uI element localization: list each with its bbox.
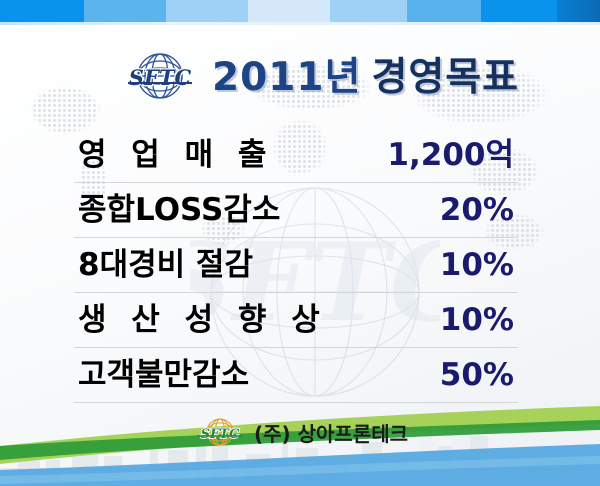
goal-value: 1,200억 — [387, 140, 518, 171]
sftc-logo-icon: SFTC — [118, 51, 202, 101]
slide-title-bar: SFTC 2011년경영목표 — [0, 48, 600, 106]
page-title: 2011년경영목표 — [212, 46, 519, 102]
goal-label: 8대경비 절감 — [74, 250, 253, 281]
svg-text:SFTC: SFTC — [129, 65, 192, 90]
top-color-band — [0, 0, 600, 22]
band-block — [330, 0, 407, 22]
band-block — [84, 0, 166, 22]
table-row: 생 산 성 향 상 10% — [74, 293, 518, 348]
goal-label: 생 산 성 향 상 — [74, 305, 327, 336]
goal-label: 종합LOSS감소 — [74, 195, 280, 226]
band-block — [248, 0, 330, 22]
title-main: 경영목표 — [371, 55, 519, 100]
sftc-footer-logo-icon: SFTC — [192, 416, 248, 448]
company-name: (주) 상아프론테크 — [254, 418, 408, 447]
goal-value: 20% — [440, 195, 518, 226]
band-block — [0, 0, 84, 22]
band-block — [166, 0, 248, 22]
band-block — [481, 0, 557, 22]
table-row: 영 업 매 출 1,200억 — [74, 128, 518, 183]
goal-value: 50% — [440, 360, 518, 391]
title-year: 2011년 — [212, 55, 361, 100]
presentation-slide: SFTC SFTC 2011년경영목표 영 업 매 출 1,200억 — [0, 0, 600, 486]
goal-label: 영 업 매 출 — [74, 140, 273, 171]
table-row: 종합LOSS감소 20% — [74, 183, 518, 238]
goal-value: 10% — [440, 250, 518, 281]
band-block — [407, 0, 481, 22]
band-block — [557, 0, 600, 22]
goal-label: 고객불만감소 — [74, 360, 249, 391]
goal-value: 10% — [440, 305, 518, 336]
goals-table: 영 업 매 출 1,200억 종합LOSS감소 20% 8대경비 절감 10% … — [74, 128, 518, 403]
svg-text:SFTC: SFTC — [201, 427, 240, 442]
footer-brand: SFTC (주) 상아프론테크 — [0, 412, 600, 452]
table-row: 8대경비 절감 10% — [74, 238, 518, 293]
